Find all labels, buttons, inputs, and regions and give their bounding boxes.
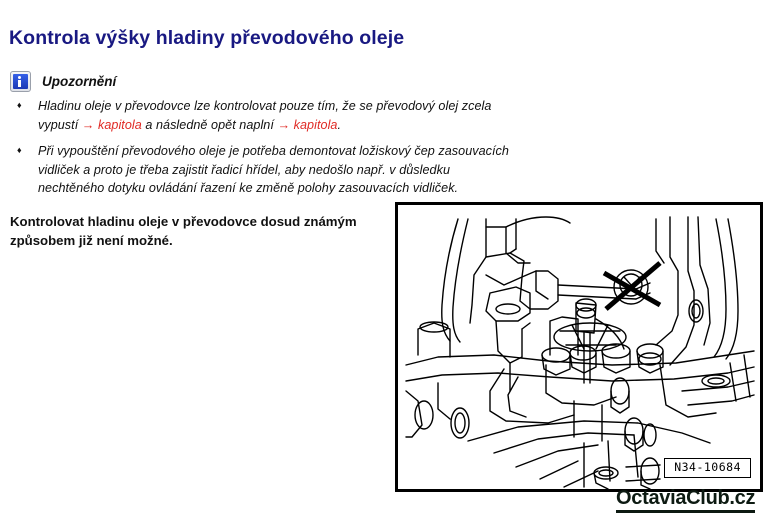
- watermark-text: OctaviaClub.cz: [616, 487, 755, 513]
- note-label: Upozornění: [42, 74, 116, 89]
- statement-paragraph: Kontrolovat hladinu oleje v převodovce d…: [10, 212, 390, 250]
- info-icon: [10, 71, 31, 92]
- chapter-reference-link[interactable]: → kapitola: [82, 118, 142, 132]
- bullet-text: Při vypouštění převodového oleje je potř…: [38, 144, 509, 195]
- text-run: Při vypouštění převodového oleje je potř…: [38, 144, 509, 195]
- page-title: Kontrola výšky hladiny převodového oleje: [9, 27, 404, 50]
- transmission-housing-drawing: [398, 205, 760, 489]
- info-icon-dot: [18, 76, 21, 79]
- watermark: OctaviaClub.cz: [616, 487, 755, 510]
- document-page: Kontrola výšky hladiny převodového oleje…: [0, 0, 771, 514]
- text-run: a následně opět naplní: [142, 118, 278, 132]
- figure-transmission-housing: N34-10684: [395, 202, 763, 492]
- note-bullet-list: Hladinu oleje v převodovce lze kontrolov…: [10, 97, 510, 206]
- bullet-diamond-icon: [17, 147, 23, 153]
- bullet-text: Hladinu oleje v převodovce lze kontrolov…: [38, 99, 491, 132]
- text-run: .: [337, 118, 341, 132]
- figure-code-label: N34-10684: [664, 458, 751, 478]
- list-item: Hladinu oleje v převodovce lze kontrolov…: [10, 97, 510, 134]
- note-header: Upozornění: [10, 70, 116, 92]
- list-item: Při vypouštění převodového oleje je potř…: [10, 142, 510, 198]
- info-icon-stem: [18, 80, 21, 87]
- bullet-diamond-icon: [17, 102, 23, 108]
- chapter-reference-link[interactable]: → kapitola: [277, 118, 337, 132]
